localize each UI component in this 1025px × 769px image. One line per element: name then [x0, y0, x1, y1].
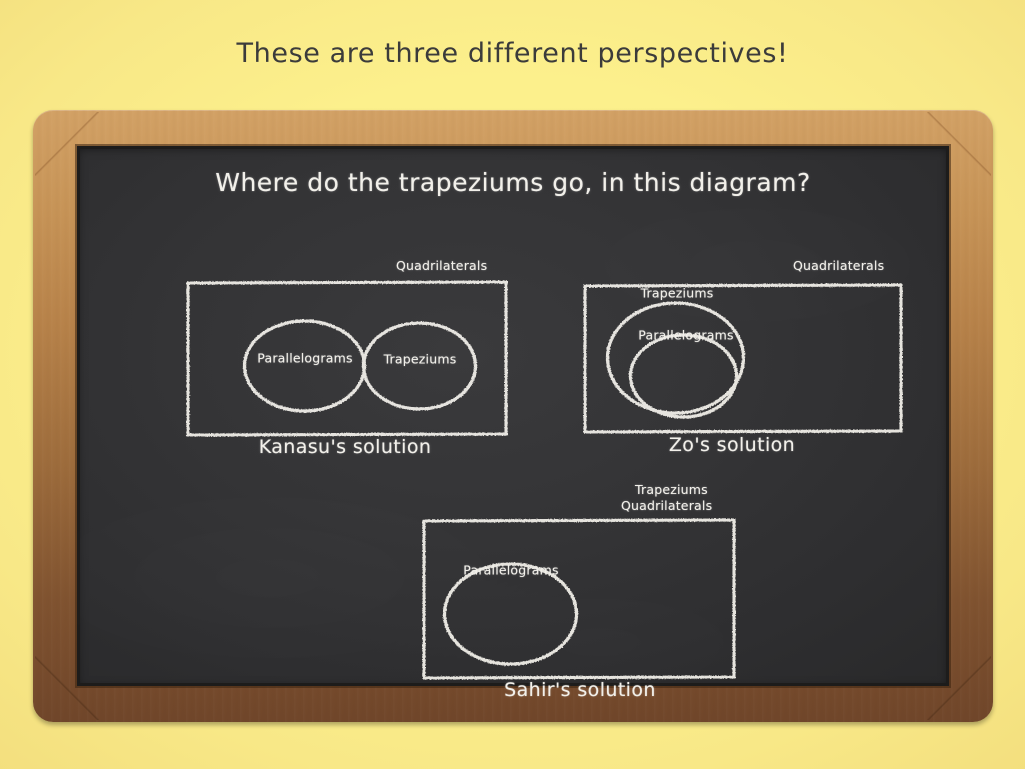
zo-parallelograms-ellipse	[631, 335, 737, 417]
zo-caption: Zo's solution	[669, 434, 795, 456]
page-title: These are three different perspectives!	[0, 38, 1025, 69]
zo-universe-label: Quadrilaterals	[793, 258, 884, 273]
sahir-universe-label-quadrilaterals: Quadrilaterals	[621, 498, 712, 513]
kanasu-universe-label: Quadrilaterals	[396, 258, 487, 273]
sahir-caption: Sahir's solution	[504, 679, 656, 701]
kanasu-set-label-parallelograms: Parallelograms	[257, 351, 352, 366]
page-root: These are three different perspectives! …	[0, 0, 1025, 769]
chalkboard-surface: Where do the trapeziums go, in this diag…	[77, 146, 949, 686]
sahir-set-label-parallelograms: Parallelograms	[463, 563, 558, 578]
kanasu-parallelograms-ellipse	[245, 321, 365, 411]
zo-set-label-trapeziums: Trapeziums	[641, 286, 714, 301]
kanasu-caption: Kanasu's solution	[259, 436, 432, 458]
chalkboard: Where do the trapeziums go, in this diag…	[33, 110, 993, 722]
sahir-parallelograms-ellipse	[444, 564, 576, 664]
kanasu-set-label-trapeziums: Trapeziums	[384, 352, 457, 367]
venn-diagrams-canvas	[77, 146, 949, 686]
zo-set-label-parallelograms: Parallelograms	[638, 328, 733, 343]
sahir-universe-label-trapeziums: Trapeziums	[635, 482, 708, 497]
zo-trapeziums-ellipse	[608, 303, 744, 413]
